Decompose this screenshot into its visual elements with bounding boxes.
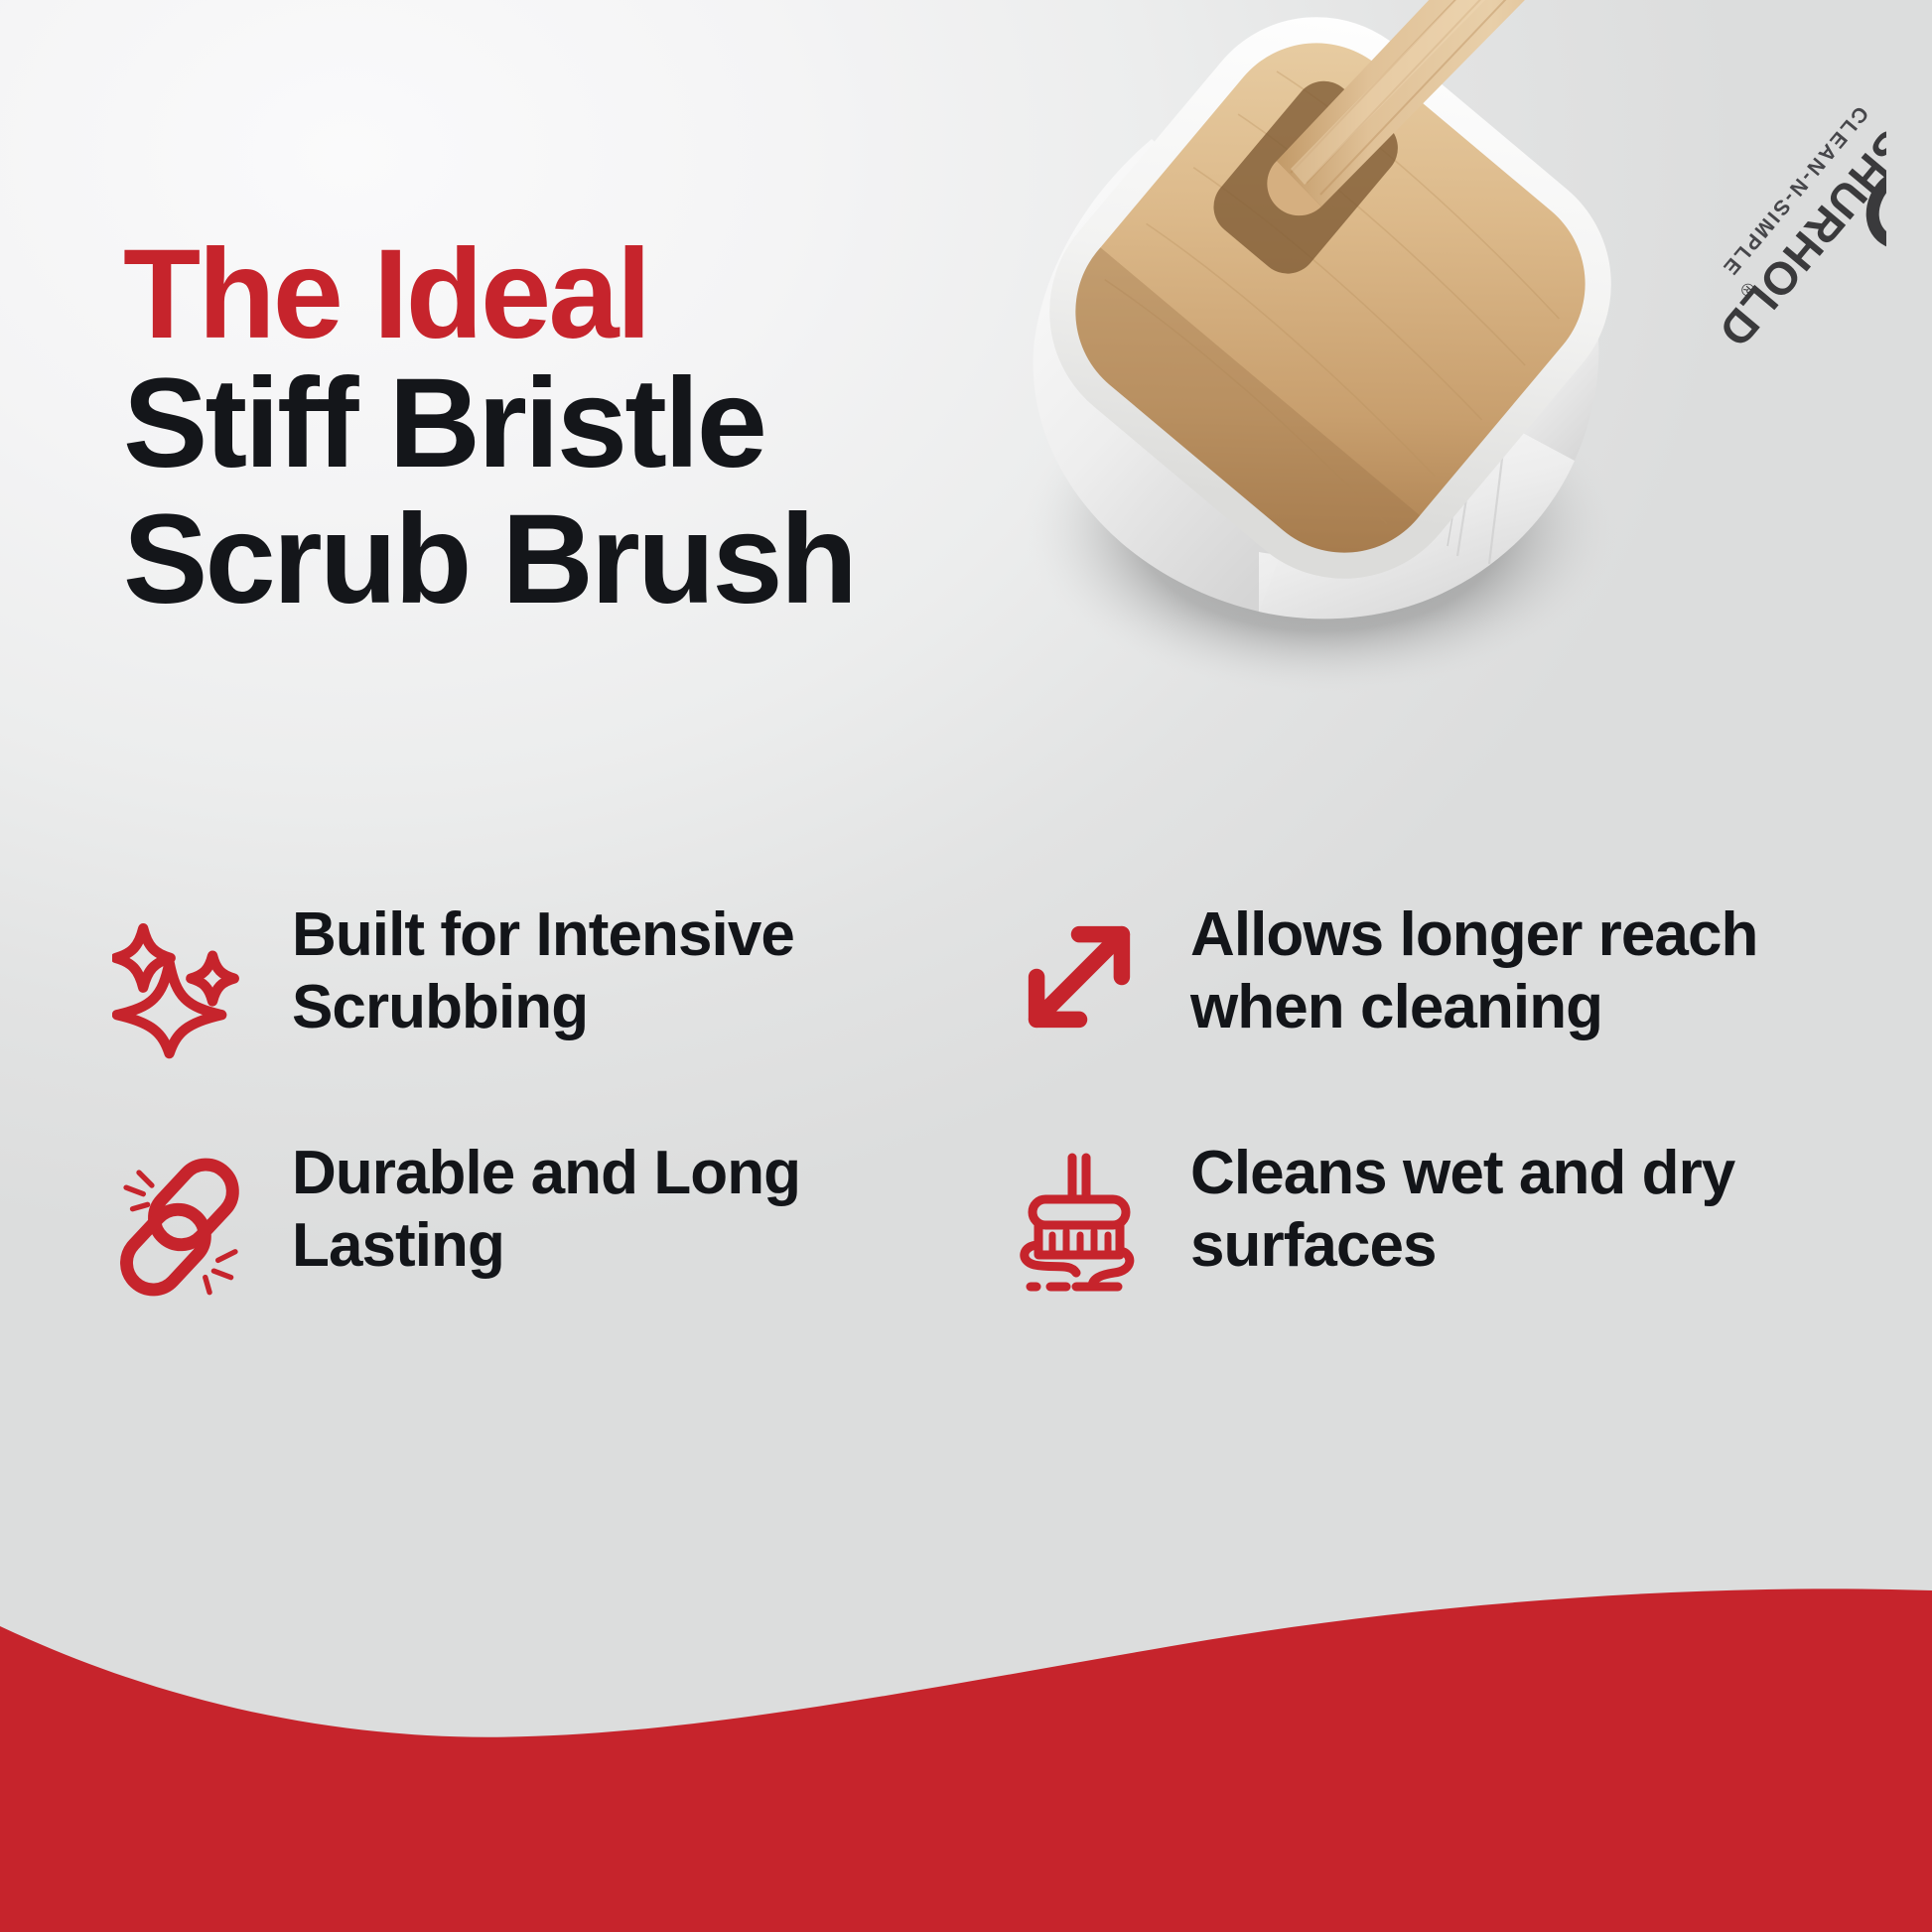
sparkle-icon <box>95 894 266 1070</box>
chain-link-icon <box>95 1132 266 1309</box>
shurhold-wordmark: SHURHOLD <box>1709 120 1886 357</box>
headline-line-1: The Ideal <box>123 234 1175 355</box>
headline-line-2: Stiff Bristle <box>123 363 1175 484</box>
shurhold-registered: ® <box>1735 278 1759 301</box>
handle-slot <box>1201 69 1410 285</box>
feature-label: Allows longer reach when cleaning <box>1190 894 1786 1043</box>
feature-list: Built for Intensive Scrubbing Allows lon… <box>95 894 1872 1309</box>
bristle-strands-shadow <box>1128 208 1467 546</box>
infographic-canvas: SHURHOLD ® CLEAN-N-SIMPLE The Ideal Stif… <box>0 0 1932 1932</box>
feature-item-wet-dry: Cleans wet and dry surfaces <box>994 1132 1872 1309</box>
bristle-strands <box>1134 183 1503 564</box>
feature-label: Built for Intensive Scrubbing <box>292 894 848 1043</box>
expand-arrow-icon <box>994 894 1165 1070</box>
headline-line-3: Scrub Brush <box>123 499 1175 621</box>
brand-mark: SHURHOLD ® CLEAN-N-SIMPLE <box>1685 100 1886 395</box>
broom-icon <box>994 1132 1165 1309</box>
shurhold-swoosh <box>1859 154 1886 258</box>
feature-label: Cleans wet and dry surfaces <box>1190 1132 1786 1282</box>
feature-item-intensive-scrubbing: Built for Intensive Scrubbing <box>95 894 974 1070</box>
page-title: The Ideal Stiff Bristle Scrub Brush <box>123 234 1175 621</box>
feature-item-durable: Durable and Long Lasting <box>95 1132 974 1309</box>
brush-handle <box>1267 0 1787 215</box>
bottom-red-wave <box>0 1575 1932 1932</box>
feature-label: Durable and Long Lasting <box>292 1132 848 1282</box>
feature-item-longer-reach: Allows longer reach when cleaning <box>994 894 1872 1070</box>
shurhold-tagline: CLEAN-N-SIMPLE <box>1718 101 1873 280</box>
